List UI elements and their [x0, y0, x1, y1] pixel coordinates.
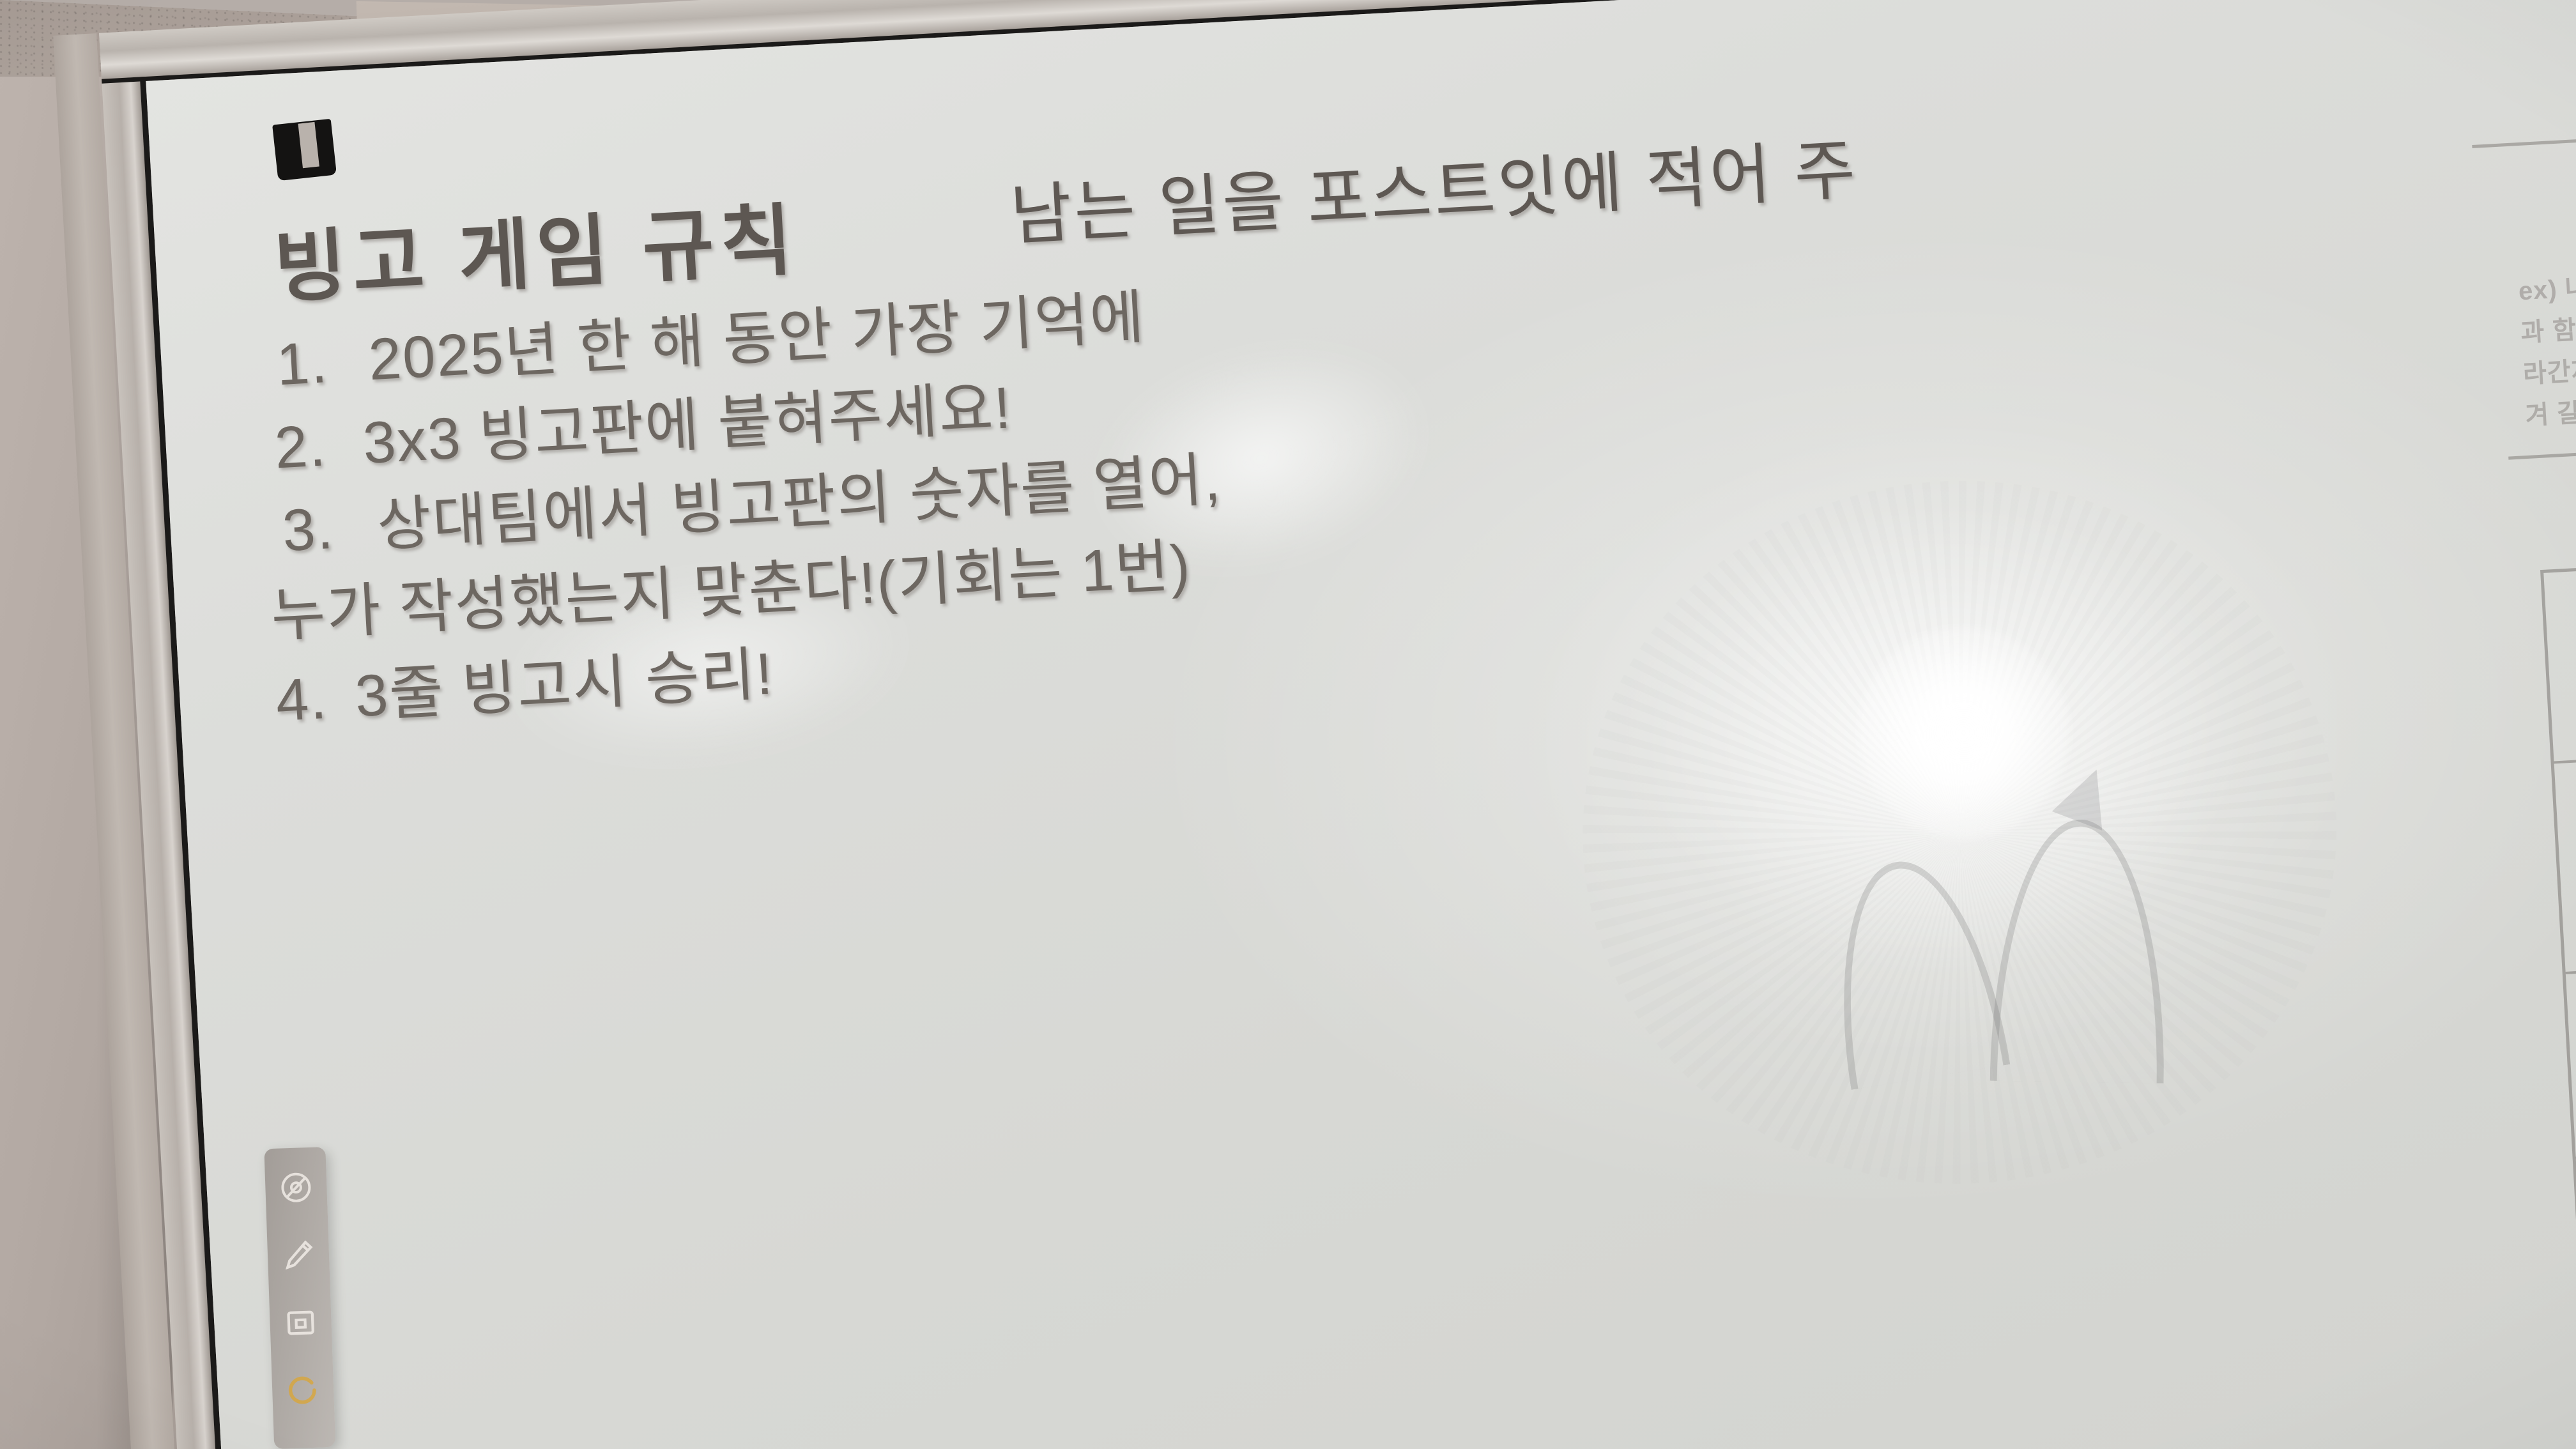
erased-arrow-mark	[2052, 760, 2122, 831]
eraser-icon[interactable]	[282, 1305, 319, 1342]
example-line-4: 겨 갈그	[2524, 390, 2576, 432]
whiteboard-surface: 빙고 게임 규칙 남는 일을 포스트잇에 적어 주 1. 2025년 한 해 동…	[146, 0, 2576, 1449]
light-glare-hotspot	[1853, 622, 2075, 844]
example-line-2: 과 함끼	[2520, 307, 2576, 349]
rule-number-3: 3.	[281, 496, 336, 563]
board-header-line: 남는 일을 포스트잇에 적어 주	[1008, 115, 1860, 258]
refresh-icon[interactable]	[284, 1372, 321, 1409]
example-line-3: 라간제	[2522, 349, 2576, 390]
rule-number-2: 2.	[273, 413, 328, 480]
example-line-1: ex) 나	[2517, 266, 2576, 307]
rule-number-1: 1.	[275, 330, 330, 397]
whiteboard: 빙고 게임 규칙 남는 일을 포스트잇에 적어 주 1. 2025년 한 해 동…	[96, 0, 2576, 1449]
pen-icon[interactable]	[280, 1237, 317, 1274]
drawn-table-outline	[2540, 556, 2576, 1278]
erased-marker-stroke	[1990, 818, 2168, 1084]
rule-number-4: 4.	[274, 666, 329, 733]
divider-line	[2472, 130, 2576, 148]
erased-marker-stroke	[1816, 849, 2010, 1090]
board-control-strip[interactable]	[264, 1147, 335, 1449]
divider-line	[2508, 443, 2576, 460]
whiteboard-photo-stage: 빙고 게임 규칙 남는 일을 포스트잇에 적어 주 1. 2025년 한 해 동…	[0, 0, 2576, 1449]
power-off-icon[interactable]	[277, 1169, 314, 1206]
